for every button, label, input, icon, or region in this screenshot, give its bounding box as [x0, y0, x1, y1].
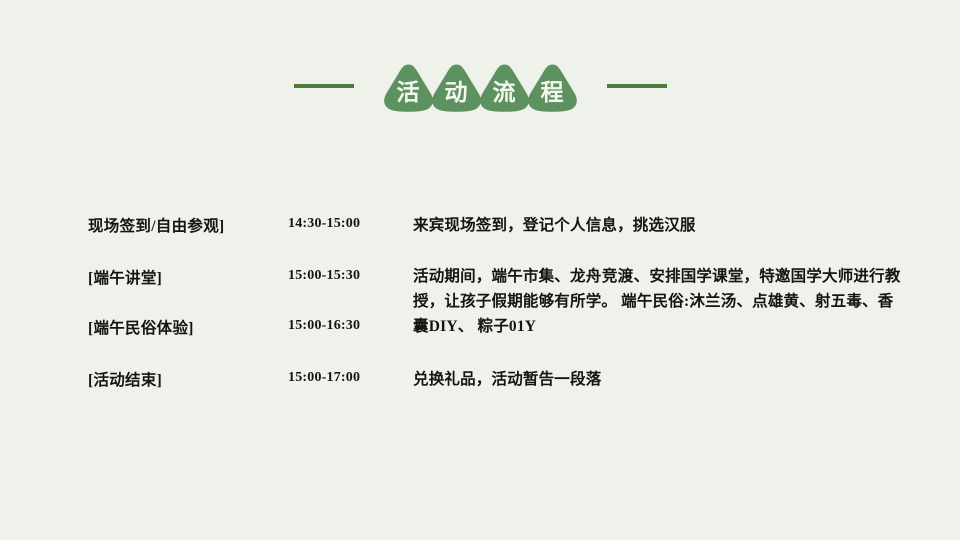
- zongzi-badge-char-2: 动: [430, 62, 483, 114]
- schedule-description: 来宾现场签到，登记个人信息，挑选汉服: [413, 213, 913, 238]
- schedule-item-label: [活动结束]: [88, 368, 162, 390]
- schedule-item-time: 15:00-15:30: [288, 268, 360, 284]
- schedule-item-time: 14:30-15:00: [288, 216, 360, 232]
- slide-canvas: 活 动 流 程: [0, 0, 960, 540]
- zongzi-badge-4: 程: [526, 62, 579, 114]
- schedule-item-time: 15:00-17:00: [288, 370, 360, 386]
- schedule-description: 兑换礼品，活动暂告一段落: [413, 367, 813, 392]
- title-rule-right: [607, 84, 667, 88]
- schedule-item-label: [端午民俗体验]: [88, 316, 194, 338]
- description-text: 来宾现场签到，登记个人信息，挑选汉服: [413, 217, 696, 234]
- schedule-item-label: [端午讲堂]: [88, 266, 162, 288]
- zongzi-badge-char-1: 活: [382, 62, 435, 114]
- zongzi-badge-char-3: 流: [478, 62, 531, 114]
- schedule-item-time: 15:00-16:30: [288, 318, 360, 334]
- description-text: 兑换礼品，活动暂告一段落: [413, 371, 601, 388]
- page-title: 活 动 流 程: [0, 58, 960, 114]
- emphasis-text: 龙舟竞渡: [570, 268, 634, 285]
- zongzi-badge-3: 流: [478, 62, 531, 114]
- title-rule-left: [294, 84, 354, 88]
- zongzi-badge-char-4: 程: [526, 62, 579, 114]
- zongzi-badge-1: 活: [382, 62, 435, 114]
- schedule-description: 活动期间，端午市集、龙舟竞渡、安排国学课堂，特邀国学大师进行教授，让孩子假期能够…: [413, 264, 905, 339]
- zongzi-badge-2: 动: [430, 62, 483, 114]
- schedule-item-label: 现场签到/自由参观]: [88, 214, 224, 236]
- description-text: 活动期间，端午市集、: [413, 268, 570, 285]
- title-badge-group: 活 动 流 程: [382, 58, 579, 114]
